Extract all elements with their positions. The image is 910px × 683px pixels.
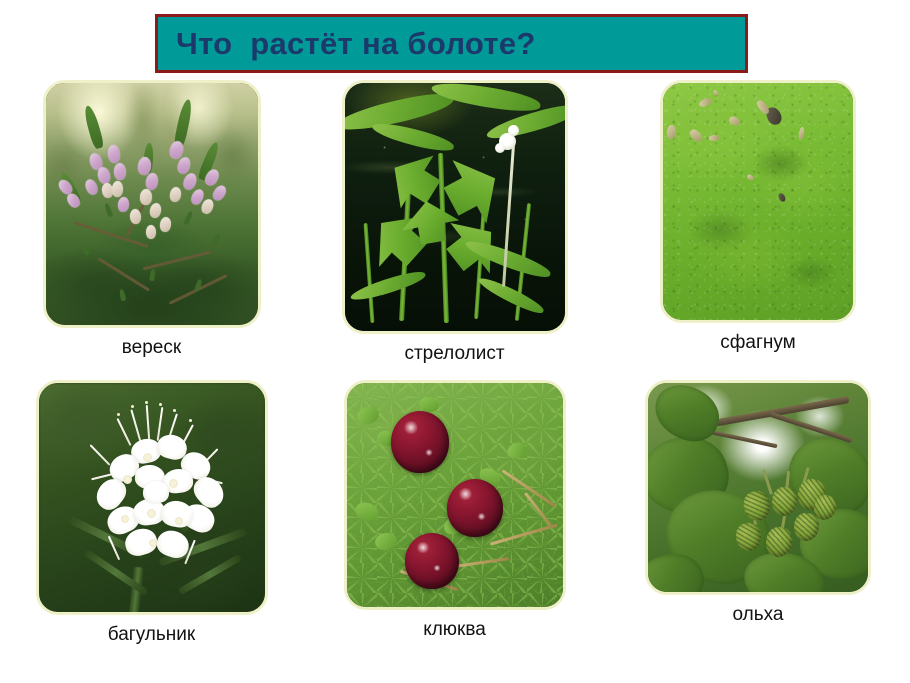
gallery-row-top: вереск: [0, 80, 910, 380]
gallery-item-alder[interactable]: ольха: [606, 380, 910, 680]
ledum-photo[interactable]: [36, 380, 268, 615]
ledum-photo-wrap: [0, 380, 303, 615]
page-title: Что растёт на болоте?: [176, 28, 536, 59]
sphagnum-debris: [663, 83, 853, 320]
gallery-item-cranberry[interactable]: клюква: [303, 380, 606, 680]
cranberry-berries: [347, 383, 563, 607]
alder-photo-wrap: [606, 380, 910, 595]
caption-ledum: багульник: [0, 625, 303, 644]
sphagnum-photo-wrap: [606, 80, 910, 323]
arrowhead-flower: [345, 83, 565, 331]
sphagnum-photo[interactable]: [660, 80, 856, 323]
slide-title-banner: Что растёт на болоте?: [155, 14, 748, 73]
arrowhead-photo[interactable]: [342, 80, 568, 334]
cranberry-photo-wrap: [303, 380, 606, 610]
arrowhead-photo-wrap: [303, 80, 606, 334]
heather-flower-spikes: [46, 83, 258, 325]
caption-heather: вереск: [0, 338, 303, 357]
plant-gallery: вереск: [0, 80, 910, 680]
gallery-item-ledum[interactable]: багульник: [0, 380, 303, 680]
caption-sphagnum: сфагнум: [606, 333, 910, 352]
gallery-row-bottom: багульник: [0, 380, 910, 680]
alder-photo[interactable]: [645, 380, 871, 595]
heather-photo-wrap: [0, 80, 303, 328]
caption-alder: ольха: [606, 605, 910, 624]
caption-arrowhead: стрелолист: [303, 344, 606, 363]
heather-photo[interactable]: [43, 80, 261, 328]
alder-catkins: [648, 383, 868, 592]
gallery-item-arrowhead[interactable]: стрелолист: [303, 80, 606, 380]
ledum-flower-cluster: [39, 383, 265, 612]
gallery-item-sphagnum[interactable]: сфагнум: [606, 80, 910, 380]
caption-cranberry: клюква: [303, 620, 606, 639]
cranberry-photo[interactable]: [344, 380, 566, 610]
gallery-item-heather[interactable]: вереск: [0, 80, 303, 380]
